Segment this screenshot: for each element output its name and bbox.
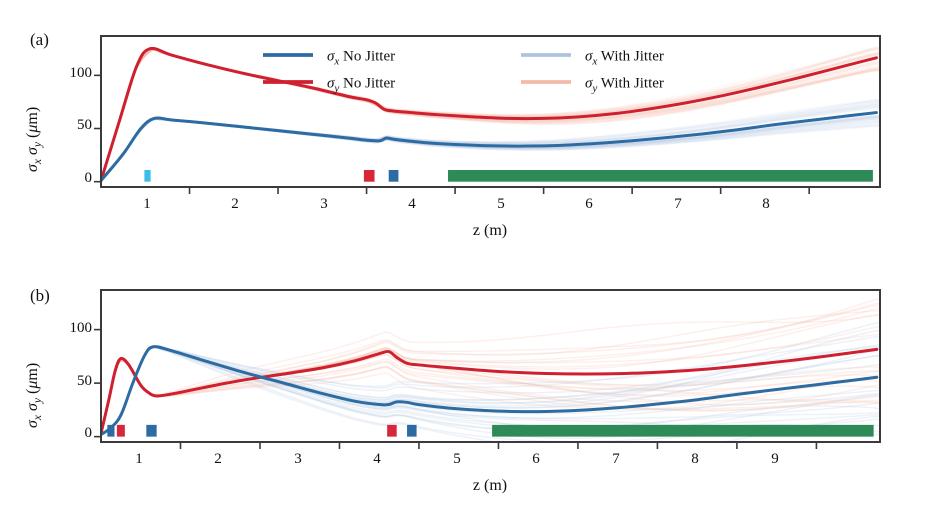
legend-label-sx-with-jitter: σx With Jitter [585,49,664,68]
panel-a: (a) σx σy (μm) 100 50 0 σx No Jitterσx W… [0,0,945,256]
panel-b: (b) σx σy (μm) 100 50 0 1 2 3 4 5 6 7 8 … [0,256,945,511]
legend-label-sx-no-jitter: σx No Jitter [327,49,395,68]
panel-b-y-axis-label: σx σy (μm) [24,363,44,428]
panel-a-plot: σx No Jitterσx With Jitterσy No Jitterσy… [0,0,945,256]
panel-b-ytick-100: 100 [44,320,92,337]
panel-a-ytick-0: 0 [44,170,92,187]
panel-b-xtick-1: 1 [119,451,159,468]
panel-a-xtick-1: 1 [127,196,167,213]
panel-a-xtick-6: 6 [569,196,609,213]
panel-b-xtick-2: 2 [198,451,238,468]
panel-a-xtick-5: 5 [481,196,521,213]
panel-a-xtick-2: 2 [215,196,255,213]
panel-a-xtick-7: 7 [658,196,698,213]
panel-b-xtick-9: 9 [755,451,795,468]
panel-b-ytick-0: 0 [44,425,92,442]
panel-a-ytick-50: 50 [44,117,92,134]
panel-b-xtick-5: 5 [437,451,477,468]
legend-label-sy-no-jitter: σy No Jitter [327,76,395,95]
panel-b-plot [0,256,945,511]
panel-b-xtick-8: 8 [675,451,715,468]
panel-b-xtick-4: 4 [357,451,397,468]
panel-a-xtick-4: 4 [392,196,432,213]
panel-b-tag: (b) [30,286,50,306]
panel-a-ytick-100: 100 [44,65,92,82]
panel-b-xtick-6: 6 [516,451,556,468]
panel-b-xtick-3: 3 [278,451,318,468]
panel-b-xtick-7: 7 [596,451,636,468]
panel-a-x-axis-label: z (m) [400,222,580,240]
panel-a-y-axis-label: σx σy (μm) [24,107,44,172]
panel-a-tag: (a) [30,30,49,50]
panel-b-x-axis-label: z (m) [400,477,580,495]
panel-a-xtick-8: 8 [746,196,786,213]
panel-a-xtick-3: 3 [304,196,344,213]
panel-b-ytick-50: 50 [44,373,92,390]
figure-root: (a) σx σy (μm) 100 50 0 σx No Jitterσx W… [0,0,945,511]
legend-label-sy-with-jitter: σy With Jitter [585,76,664,95]
